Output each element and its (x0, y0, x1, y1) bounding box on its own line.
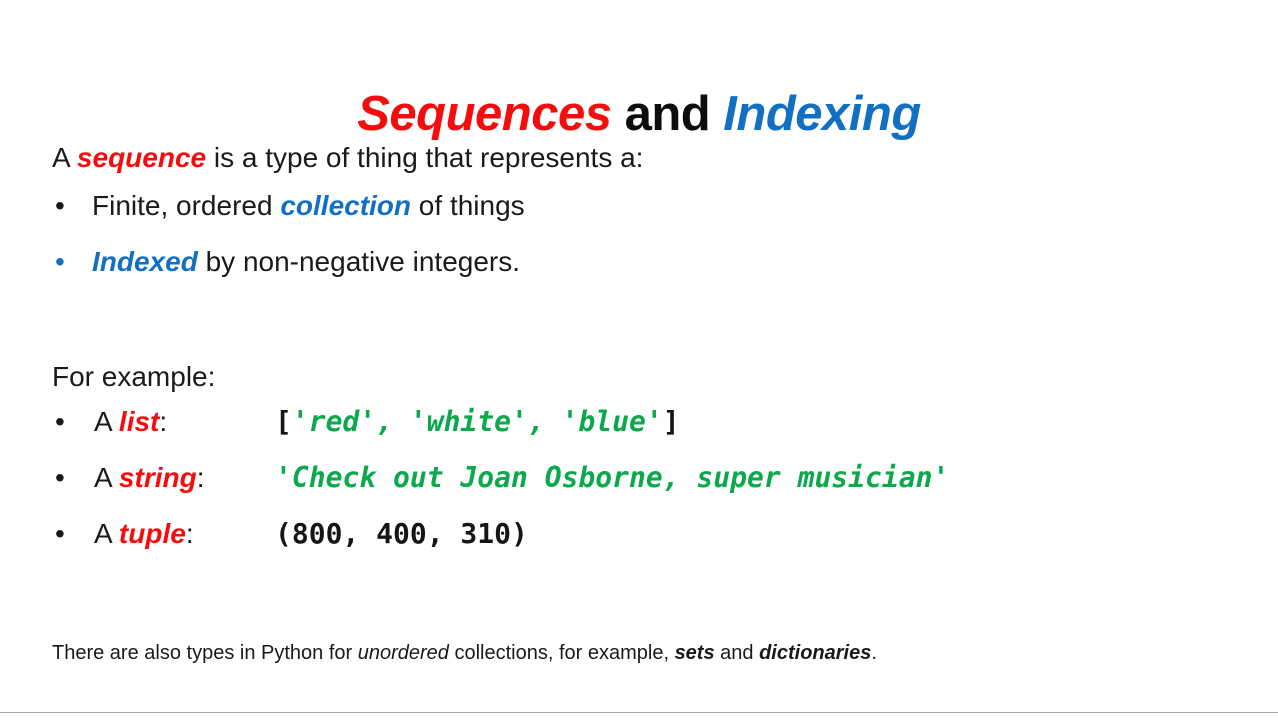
title-part-and: and (611, 87, 723, 141)
examples-list: • A list: ['red', 'white', 'blue'] • A s… (52, 394, 1242, 562)
bullet-text-after: of things (411, 190, 525, 221)
bullet-dot-icon: • (55, 178, 65, 234)
example-code-tuple: (800, 400, 310) (275, 506, 528, 562)
bullet-text-after: by non-negative integers. (198, 246, 520, 277)
code-value: (800, 400, 310) (275, 517, 528, 550)
footer-part-1: There are also types in Python for (52, 642, 358, 664)
title-part-sequences: Sequences (357, 87, 611, 141)
bullet-dot-icon: • (55, 394, 65, 450)
bottom-divider (0, 712, 1278, 713)
definition-bullet-list: • Finite, ordered collection of things •… (52, 178, 1232, 290)
example-colon: : (159, 406, 167, 437)
example-type-list: list (119, 406, 159, 437)
example-type-string: string (119, 462, 197, 493)
footer-italic-unordered: unordered (358, 642, 449, 664)
footer-bold-sets: sets (675, 642, 715, 664)
code-bracket-close: ] (663, 405, 680, 438)
definition-block: A sequence is a type of thing that repre… (52, 138, 1232, 290)
footer-part-4: . (871, 642, 877, 664)
example-colon: : (197, 462, 205, 493)
bullet-emphasis-indexed: Indexed (92, 246, 198, 277)
list-item: • A tuple: (800, 400, 310) (52, 506, 1242, 562)
example-code-list: ['red', 'white', 'blue'] (275, 394, 680, 450)
examples-lead: For example: (52, 360, 1242, 394)
definition-lead: A sequence is a type of thing that repre… (52, 138, 1232, 178)
slide-canvas: Sequences and Indexing A sequence is a t… (0, 0, 1278, 720)
bullet-dot-icon: • (55, 506, 65, 562)
list-item: • Indexed by non-negative integers. (52, 234, 1232, 290)
example-article: A (94, 518, 119, 549)
bullet-emphasis-collection: collection (280, 190, 411, 221)
footer-bold-dictionaries: dictionaries (759, 642, 871, 664)
list-item: • Finite, ordered collection of things (52, 178, 1232, 234)
page-title: Sequences and Indexing (0, 85, 1278, 143)
lead-text-after: is a type of thing that represents a: (206, 142, 643, 173)
example-label: A list: (94, 394, 167, 450)
footer-note: There are also types in Python for unord… (52, 640, 877, 666)
example-label: A tuple: (94, 506, 194, 562)
example-type-tuple: tuple (119, 518, 186, 549)
code-value: 'Check out Joan Osborne, super musician' (275, 461, 949, 494)
bullet-text-before: Finite, ordered (92, 190, 280, 221)
bullet-dot-icon: • (55, 450, 65, 506)
title-part-indexing: Indexing (723, 87, 920, 141)
footer-part-2: collections, for example, (449, 642, 675, 664)
list-item: • A list: ['red', 'white', 'blue'] (52, 394, 1242, 450)
footer-part-3: and (715, 642, 759, 664)
lead-text-before: A (52, 142, 77, 173)
examples-block: For example: • A list: ['red', 'white', … (52, 360, 1242, 562)
lead-emphasis-sequence: sequence (77, 142, 206, 173)
code-value: 'red', 'white', 'blue' (292, 405, 663, 438)
example-colon: : (186, 518, 194, 549)
bullet-dot-icon: • (55, 234, 65, 290)
example-article: A (94, 406, 119, 437)
example-code-string: 'Check out Joan Osborne, super musician' (275, 450, 949, 506)
list-item: • A string: 'Check out Joan Osborne, sup… (52, 450, 1242, 506)
example-label: A string: (94, 450, 204, 506)
example-article: A (94, 462, 119, 493)
code-bracket-open: [ (275, 405, 292, 438)
